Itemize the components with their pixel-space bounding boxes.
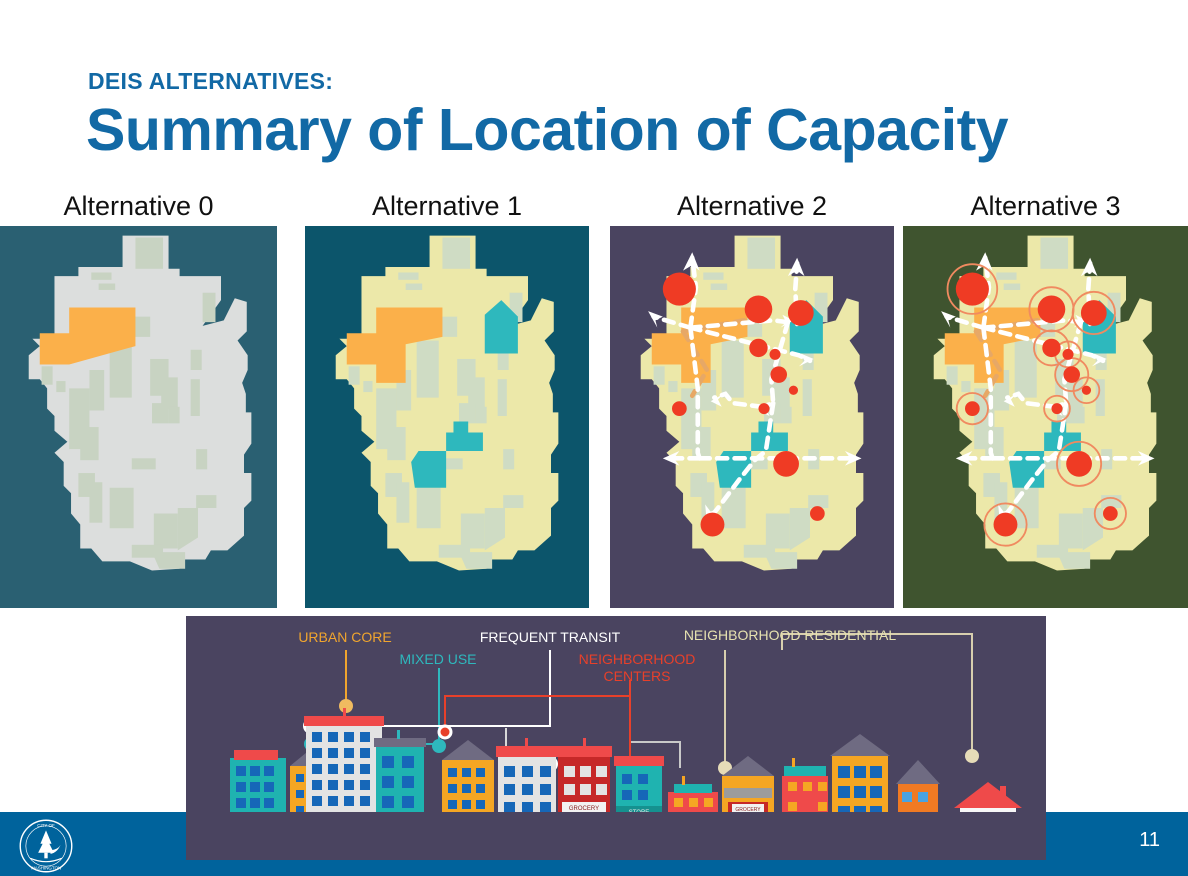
logo-text-washington: WASHINGTON	[31, 866, 62, 871]
dot-residential-2	[965, 749, 979, 763]
map-svg-alt1	[305, 226, 589, 608]
logo-text-city-of: CITY OF	[37, 823, 55, 828]
svg-text:NEIGHBORHOOD: NEIGHBORHOOD	[579, 651, 696, 667]
legend-panel-footer-overlap	[186, 812, 1046, 860]
slide-eyebrow: DEIS ALTERNATIVES:	[88, 68, 333, 95]
map-panel-alt2[interactable]	[610, 226, 894, 608]
map-svg-alt2	[610, 226, 894, 608]
svg-text:CENTERS: CENTERS	[604, 668, 671, 684]
legend-label-frequent-transit: FREQUENT TRANSIT	[480, 629, 621, 645]
bellevue-city-logo: CITY OF WASHINGTON	[18, 818, 74, 874]
dot-centers	[439, 726, 451, 738]
slide-root: DEIS ALTERNATIVES: Summary of Location o…	[0, 0, 1188, 876]
page-number: 11	[1139, 829, 1160, 852]
panel-heading-alt1: Alternative 1	[305, 191, 589, 222]
map-svg-alt3	[903, 226, 1188, 608]
map-panel-alt1[interactable]	[305, 226, 589, 608]
panel-heading-alt2: Alternative 2	[610, 191, 894, 222]
map-panel-alt0[interactable]	[0, 226, 277, 608]
dot-mixed-use-2	[432, 739, 446, 753]
map-svg-alt0	[0, 226, 277, 608]
panel-heading-alt3: Alternative 3	[903, 191, 1188, 222]
legend-label-neighborhood-residential: NEIGHBORHOOD RESIDENTIAL	[684, 627, 897, 643]
panel-heading-alt0: Alternative 0	[0, 191, 277, 222]
legend-label-mixed-use: MIXED USE	[399, 651, 476, 667]
legend-label-urban-core: URBAN CORE	[298, 629, 391, 645]
map-panel-alt3[interactable]	[903, 226, 1188, 608]
page-title: Summary of Location of Capacity	[86, 96, 1008, 164]
